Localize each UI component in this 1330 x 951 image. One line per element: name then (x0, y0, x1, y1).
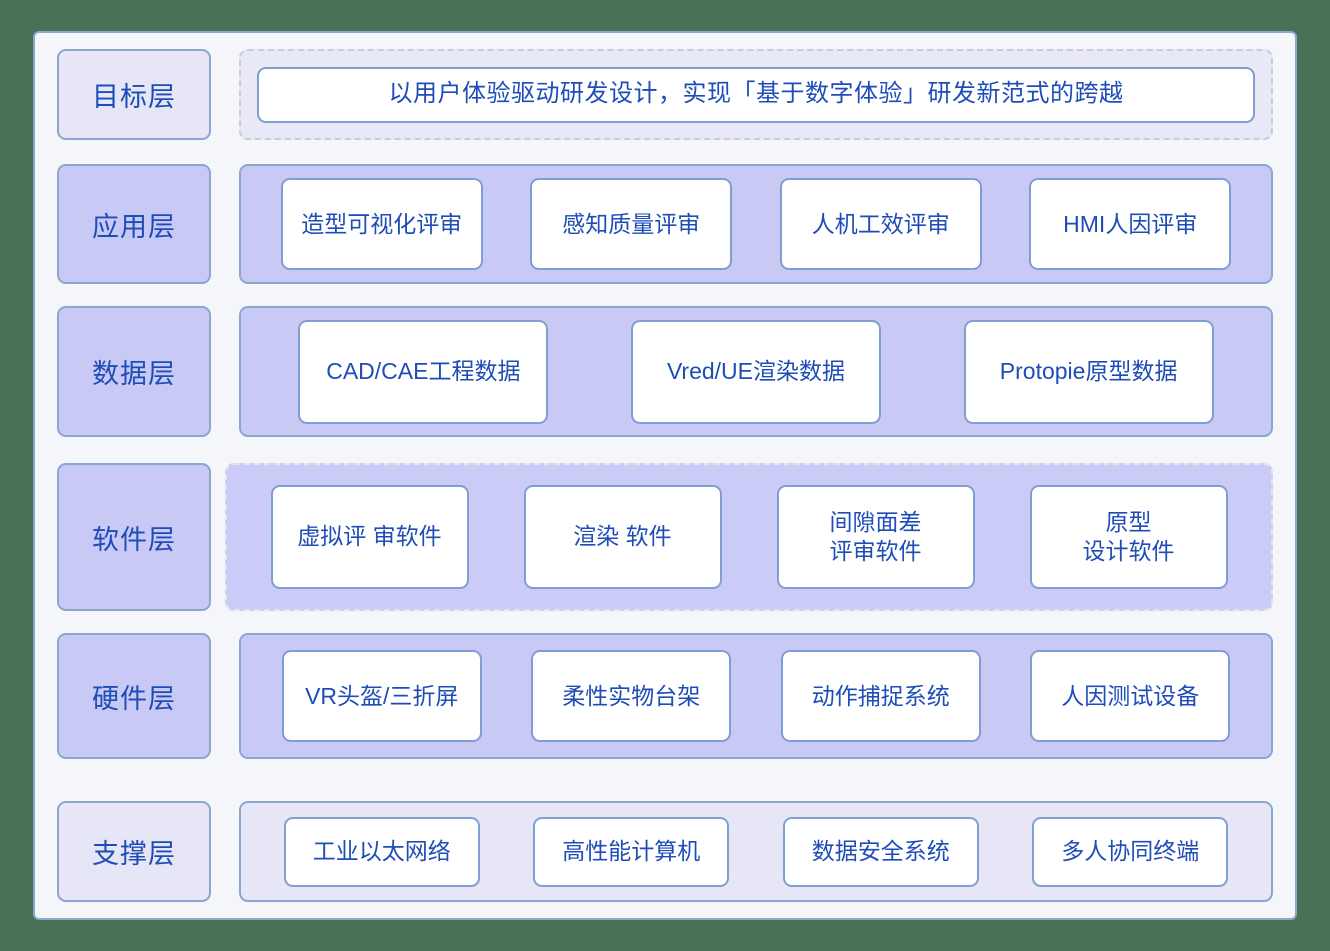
node-goal-statement[interactable]: 以用户体验驱动研发设计，实现「基于数字体验」研发新范式的跨越 (257, 67, 1255, 123)
node-strip-application: 造型可视化评审 感知质量评审 人机工效评审 HMI人因评审 (257, 178, 1255, 270)
node-strip-support: 工业以太网络 高性能计算机 数据安全系统 多人协同终端 (257, 817, 1255, 887)
layer-row-support: 支撑层 工业以太网络 高性能计算机 数据安全系统 多人协同终端 (57, 801, 1273, 902)
node-application-0-text: 造型可视化评审 (301, 210, 462, 239)
node-software-2-text: 间隙面差 评审软件 (830, 508, 922, 567)
node-software-1-text: 渲染 软件 (573, 522, 671, 551)
node-support-3[interactable]: 多人协同终端 (1032, 817, 1228, 887)
node-data-1[interactable]: Vred/UE渲染数据 (631, 320, 881, 424)
layer-band-data: CAD/CAE工程数据 Vred/UE渲染数据 Protopie原型数据 (239, 306, 1273, 436)
node-application-2[interactable]: 人机工效评审 (780, 178, 982, 270)
layer-label-support[interactable]: 支撑层 (57, 801, 211, 902)
node-support-0[interactable]: 工业以太网络 (284, 817, 480, 887)
layer-label-goal-text: 目标层 (92, 75, 176, 114)
node-software-1[interactable]: 渲染 软件 (524, 485, 722, 589)
layer-label-support-text: 支撑层 (92, 832, 176, 871)
layer-band-application: 造型可视化评审 感知质量评审 人机工效评审 HMI人因评审 (239, 164, 1273, 284)
layer-row-application: 应用层 造型可视化评审 感知质量评审 人机工效评审 HMI人因评审 (57, 164, 1273, 284)
layer-row-hardware: 硬件层 VR头盔/三折屏 柔性实物台架 动作捕捉系统 人因测试设备 (57, 633, 1273, 759)
node-data-1-text: Vred/UE渲染数据 (667, 357, 845, 386)
node-support-0-text: 工业以太网络 (313, 837, 451, 866)
node-data-0-text: CAD/CAE工程数据 (326, 357, 520, 386)
layer-row-software: 软件层 虚拟评 审软件 渲染 软件 间隙面差 评审软件 原型 设计软件 (57, 463, 1273, 612)
node-software-3[interactable]: 原型 设计软件 (1030, 485, 1228, 589)
node-hardware-1[interactable]: 柔性实物台架 (531, 650, 731, 742)
layer-label-application-text: 应用层 (92, 205, 176, 244)
layer-label-hardware-text: 硬件层 (92, 677, 176, 716)
layer-label-data[interactable]: 数据层 (57, 306, 211, 436)
node-strip-software: 虚拟评 审软件 渲染 软件 间隙面差 评审软件 原型 设计软件 (243, 485, 1255, 589)
node-application-0[interactable]: 造型可视化评审 (281, 178, 483, 270)
node-hardware-3-text: 人因测试设备 (1061, 682, 1199, 711)
node-strip-hardware: VR头盔/三折屏 柔性实物台架 动作捕捉系统 人因测试设备 (257, 650, 1255, 742)
layer-label-goal[interactable]: 目标层 (57, 49, 211, 140)
node-strip-data: CAD/CAE工程数据 Vred/UE渲染数据 Protopie原型数据 (257, 320, 1255, 424)
node-support-2[interactable]: 数据安全系统 (783, 817, 979, 887)
node-application-1[interactable]: 感知质量评审 (530, 178, 732, 270)
layer-band-software: 虚拟评 审软件 渲染 软件 间隙面差 评审软件 原型 设计软件 (225, 463, 1273, 612)
node-support-1[interactable]: 高性能计算机 (533, 817, 729, 887)
node-software-2[interactable]: 间隙面差 评审软件 (777, 485, 975, 589)
layer-row-data: 数据层 CAD/CAE工程数据 Vred/UE渲染数据 Protopie原型数据 (57, 306, 1273, 436)
layer-label-hardware[interactable]: 硬件层 (57, 633, 211, 759)
layer-band-hardware: VR头盔/三折屏 柔性实物台架 动作捕捉系统 人因测试设备 (239, 633, 1273, 759)
node-hardware-2[interactable]: 动作捕捉系统 (781, 650, 981, 742)
layer-band-goal: 以用户体验驱动研发设计，实现「基于数字体验」研发新范式的跨越 (239, 49, 1273, 140)
node-support-1-text: 高性能计算机 (562, 837, 700, 866)
node-software-0[interactable]: 虚拟评 审软件 (271, 485, 469, 589)
layer-label-data-text: 数据层 (92, 352, 176, 391)
layer-row-goal: 目标层 以用户体验驱动研发设计，实现「基于数字体验」研发新范式的跨越 (57, 49, 1273, 140)
node-goal-statement-text: 以用户体验驱动研发设计，实现「基于数字体验」研发新范式的跨越 (389, 79, 1124, 110)
node-data-2-text: Protopie原型数据 (1000, 357, 1178, 386)
layer-label-software[interactable]: 软件层 (57, 463, 211, 612)
node-hardware-3[interactable]: 人因测试设备 (1030, 650, 1230, 742)
node-support-2-text: 数据安全系统 (812, 837, 950, 866)
node-application-3-text: HMI人因评审 (1063, 210, 1197, 239)
node-application-1-text: 感知质量评审 (562, 210, 700, 239)
layer-band-support: 工业以太网络 高性能计算机 数据安全系统 多人协同终端 (239, 801, 1273, 902)
layer-row-list: 目标层 以用户体验驱动研发设计，实现「基于数字体验」研发新范式的跨越 应用层 造… (35, 33, 1295, 918)
node-data-0[interactable]: CAD/CAE工程数据 (298, 320, 548, 424)
layer-label-software-text: 软件层 (92, 518, 176, 557)
node-hardware-2-text: 动作捕捉系统 (812, 682, 950, 711)
node-software-3-text: 原型 设计软件 (1083, 508, 1175, 567)
node-software-0-text: 虚拟评 审软件 (297, 522, 441, 551)
node-hardware-1-text: 柔性实物台架 (562, 682, 700, 711)
node-hardware-0[interactable]: VR头盔/三折屏 (282, 650, 482, 742)
node-hardware-0-text: VR头盔/三折屏 (305, 682, 458, 711)
node-application-2-text: 人机工效评审 (812, 210, 950, 239)
node-support-3-text: 多人协同终端 (1061, 837, 1199, 866)
architecture-diagram-frame: 目标层 以用户体验驱动研发设计，实现「基于数字体验」研发新范式的跨越 应用层 造… (33, 31, 1297, 920)
node-application-3[interactable]: HMI人因评审 (1029, 178, 1231, 270)
node-data-2[interactable]: Protopie原型数据 (964, 320, 1214, 424)
layer-label-application[interactable]: 应用层 (57, 164, 211, 284)
